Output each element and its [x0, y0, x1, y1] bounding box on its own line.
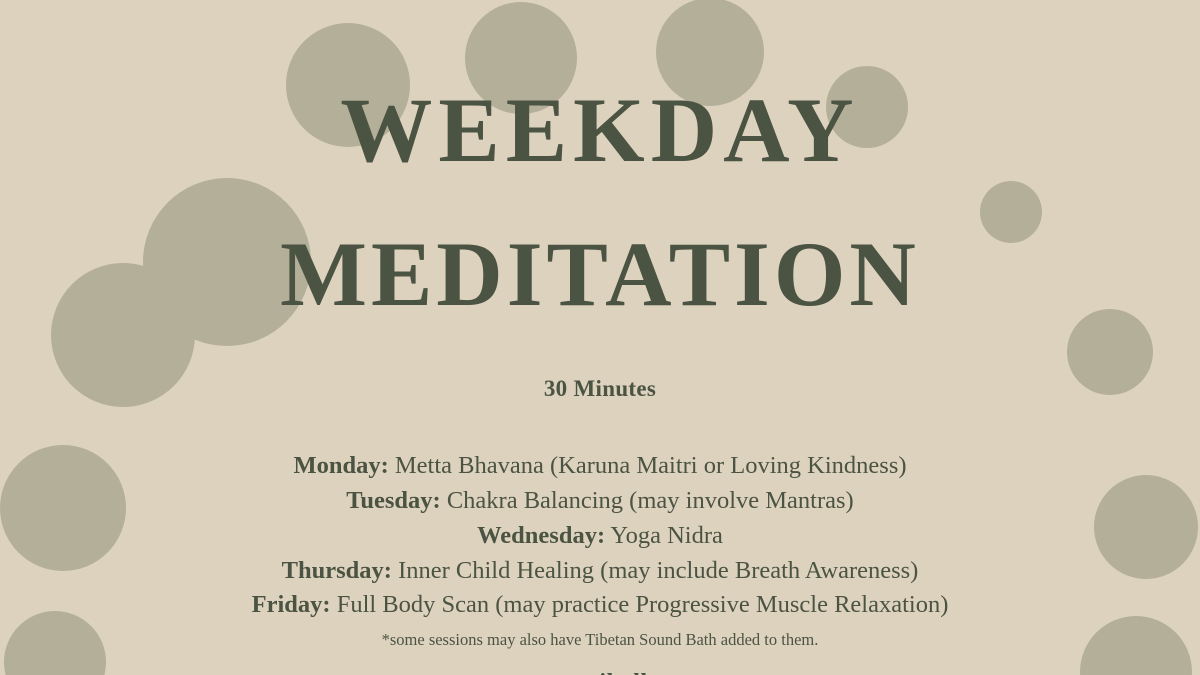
schedule-day-description: Inner Child Healing (may include Breath …	[392, 557, 918, 584]
poster-canvas: WEEKDAY MEDITATION 30 Minutes Monday: Me…	[0, 0, 1200, 675]
poster-title-line-2: MEDITATION	[0, 228, 1200, 320]
poster-content: WEEKDAY MEDITATION 30 Minutes Monday: Me…	[0, 0, 1200, 675]
schedule-day-description: Yoga Nidra	[605, 522, 723, 549]
schedule-row: Monday: Metta Bhavana (Karuna Maitri or …	[293, 450, 906, 482]
session-duration: 30 Minutes	[544, 376, 656, 402]
schedule-row: Tuesday: Chakra Balancing (may involve M…	[346, 485, 853, 517]
schedule-day-label: Tuesday:	[346, 487, 440, 514]
schedule-day-label: Monday:	[293, 452, 388, 479]
schedule-row: Thursday: Inner Child Healing (may inclu…	[282, 555, 919, 587]
schedule-row: Friday: Full Body Scan (may practice Pro…	[252, 589, 949, 621]
weekly-schedule-list: Monday: Metta Bhavana (Karuna Maitri or …	[252, 450, 949, 621]
title-block: WEEKDAY MEDITATION	[0, 84, 1200, 320]
schedule-day-description: Chakra Balancing (may involve Mantras)	[441, 487, 854, 514]
schedule-day-label: Thursday:	[282, 557, 392, 584]
schedule-day-label: Friday:	[252, 591, 331, 618]
schedule-day-description: Full Body Scan (may practice Progressive…	[331, 591, 949, 618]
schedule-day-label: Wednesday:	[477, 522, 605, 549]
website-url[interactable]: www.coquihalla.com	[489, 670, 712, 675]
schedule-row: Wednesday: Yoga Nidra	[477, 520, 723, 552]
poster-title-line-1: WEEKDAY	[0, 84, 1200, 176]
schedule-day-description: Metta Bhavana (Karuna Maitri or Loving K…	[389, 452, 907, 479]
schedule-footnote: *some sessions may also have Tibetan Sou…	[382, 630, 819, 650]
